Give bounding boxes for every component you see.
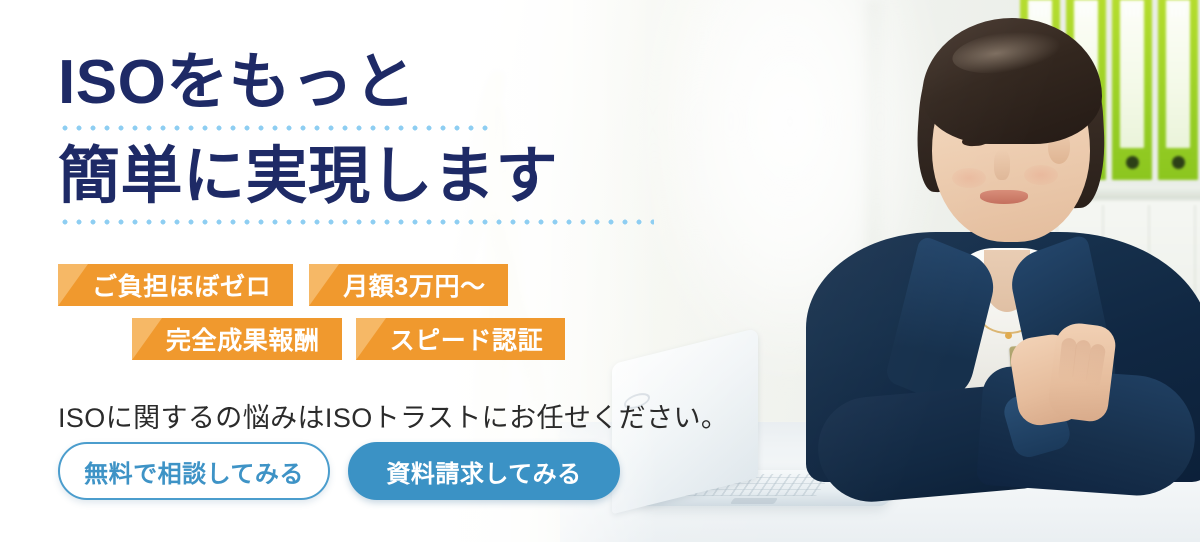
hero-content: ISOをもっと 簡単に実現します ご負担ほぼゼロ 月額3万円～ 完全成果報酬 — [0, 0, 700, 542]
badge-cost-near-zero: ご負担ほぼゼロ — [58, 264, 293, 306]
hero-banner: ISOをもっと 簡単に実現します ご負担ほぼゼロ 月額3万円～ 完全成果報酬 — [0, 0, 1200, 542]
clasped-hands — [1008, 318, 1138, 428]
headline-line-2: 簡単に実現します — [58, 138, 698, 216]
nose — [994, 150, 1010, 180]
badge-speed-certification: スピード認証 — [356, 318, 566, 360]
feature-badges: ご負担ほぼゼロ 月額3万円～ 完全成果報酬 スピード認証 — [58, 264, 698, 360]
badge-performance-based-fee: 完全成果報酬 — [132, 318, 342, 360]
cheek — [1024, 165, 1058, 185]
headline-line-1: ISOをもっと — [58, 44, 698, 122]
badge-row-1: ご負担ほぼゼロ 月額3万円～ — [58, 264, 698, 306]
badge-monthly-price: 月額3万円～ — [309, 264, 508, 306]
badge-label: スピード認証 — [390, 321, 544, 357]
badge-label: ご負担ほぼゼロ — [92, 267, 271, 303]
headline-dotted-rule — [58, 218, 654, 226]
headline-dotted-rule — [58, 124, 490, 132]
cta-buttons: 無料で相談してみる 資料請求してみる — [58, 442, 620, 500]
badge-row-2: 完全成果報酬 スピード認証 — [132, 318, 698, 360]
mouth — [980, 190, 1028, 204]
laptop-trackpad — [730, 498, 778, 504]
lead-copy: ISOに関するの悩みはISOトラストにお任せください。 — [58, 396, 728, 435]
cheek — [952, 168, 986, 188]
headline: ISOをもっと 簡単に実現します — [58, 44, 698, 232]
badge-label: 月額3万円～ — [343, 267, 486, 303]
free-consultation-label: 無料で相談してみる — [84, 454, 304, 489]
free-consultation-button[interactable]: 無料で相談してみる — [58, 442, 330, 500]
request-materials-label: 資料請求してみる — [386, 454, 581, 489]
businesswoman — [812, 0, 1200, 542]
request-materials-button[interactable]: 資料請求してみる — [348, 442, 620, 500]
badge-label: 完全成果報酬 — [166, 321, 320, 357]
